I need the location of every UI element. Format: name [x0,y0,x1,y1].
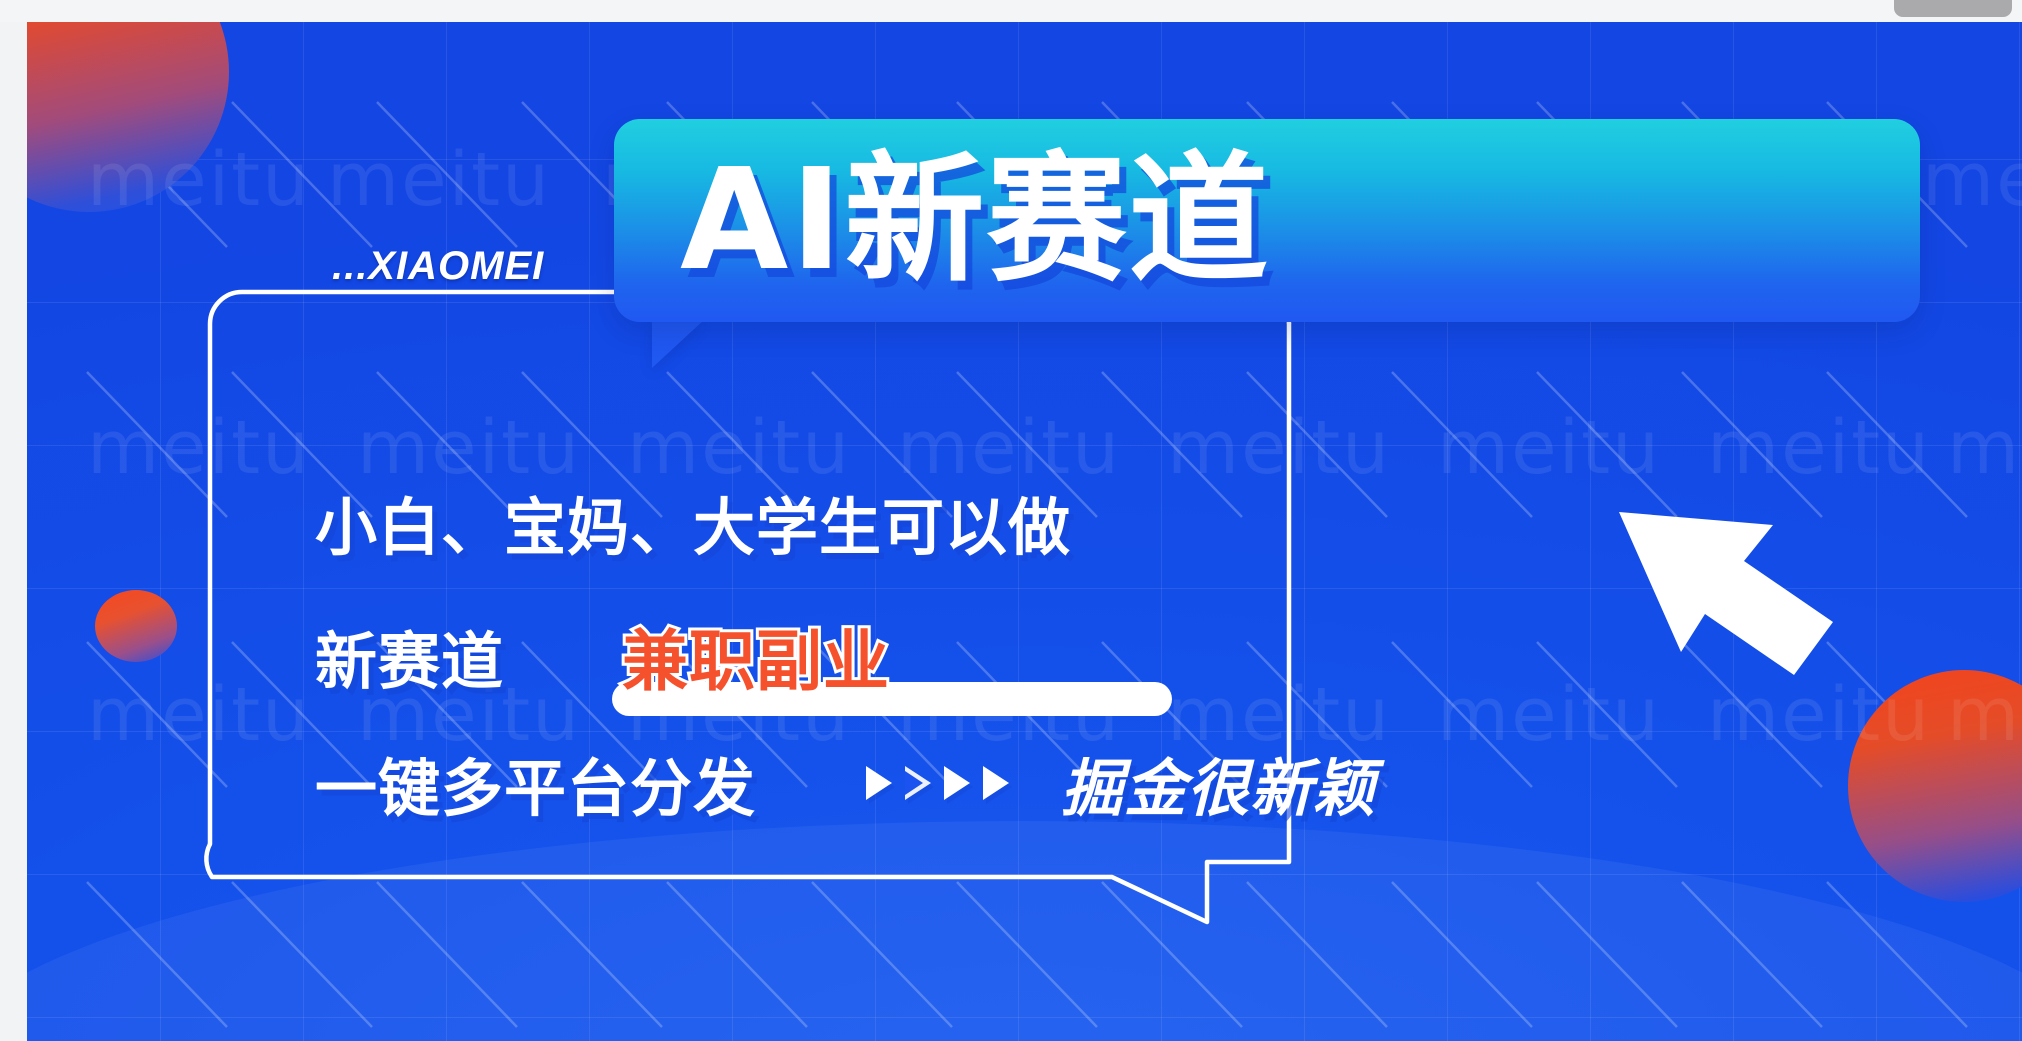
headline-banner: AI新赛道 [614,119,1920,322]
highlight-text: 兼职副业 [622,624,890,698]
body-line-1: 小白、宝妈、大学生可以做 [315,477,1071,567]
watermark-text: meitu [87,137,311,223]
body-line-2: 新赛道 兼职副业 [315,608,890,704]
browser-tab-handle[interactable] [1894,0,2012,17]
browser-top-strip [0,0,2022,22]
watermark-text: meitu [1922,137,2022,223]
highlight-group: 兼职副业 [622,608,890,704]
watermark-text: meitu [1167,405,1391,491]
triangle-right-outline-icon [905,766,931,800]
brand-label: ...XIAOMEI [332,244,544,289]
poster-canvas: meitumeitumeitumeitumeitumeitumeitumeitu… [27,22,2022,1041]
body-line-3-right: 掘金很新颖 [1061,738,1376,828]
body-line-3: 一键多平台分发 掘金很新颖 [315,738,1376,828]
cursor-arrow-icon [1581,477,1881,727]
triangle-right-icon [944,766,970,800]
triangle-right-icon [983,766,1009,800]
watermark-text: meitu [87,672,311,758]
decorative-circle-left-small [95,590,177,662]
watermark-text: meitu [87,405,311,491]
banner-tail [652,320,704,368]
headline-text: AI新赛道 [614,119,1920,322]
triangle-right-icon [866,766,892,800]
watermark-text: meitu [1947,672,2022,758]
screen-root: meitumeitumeitumeitumeitumeitumeitumeitu… [0,0,2022,1041]
watermark-text: meitu [327,137,551,223]
body-line-3-left: 一键多平台分发 [315,738,756,828]
arrow-group [866,766,1009,800]
body-line-2-left: 新赛道 [315,611,504,701]
watermark-text: meitu [1947,405,2022,491]
